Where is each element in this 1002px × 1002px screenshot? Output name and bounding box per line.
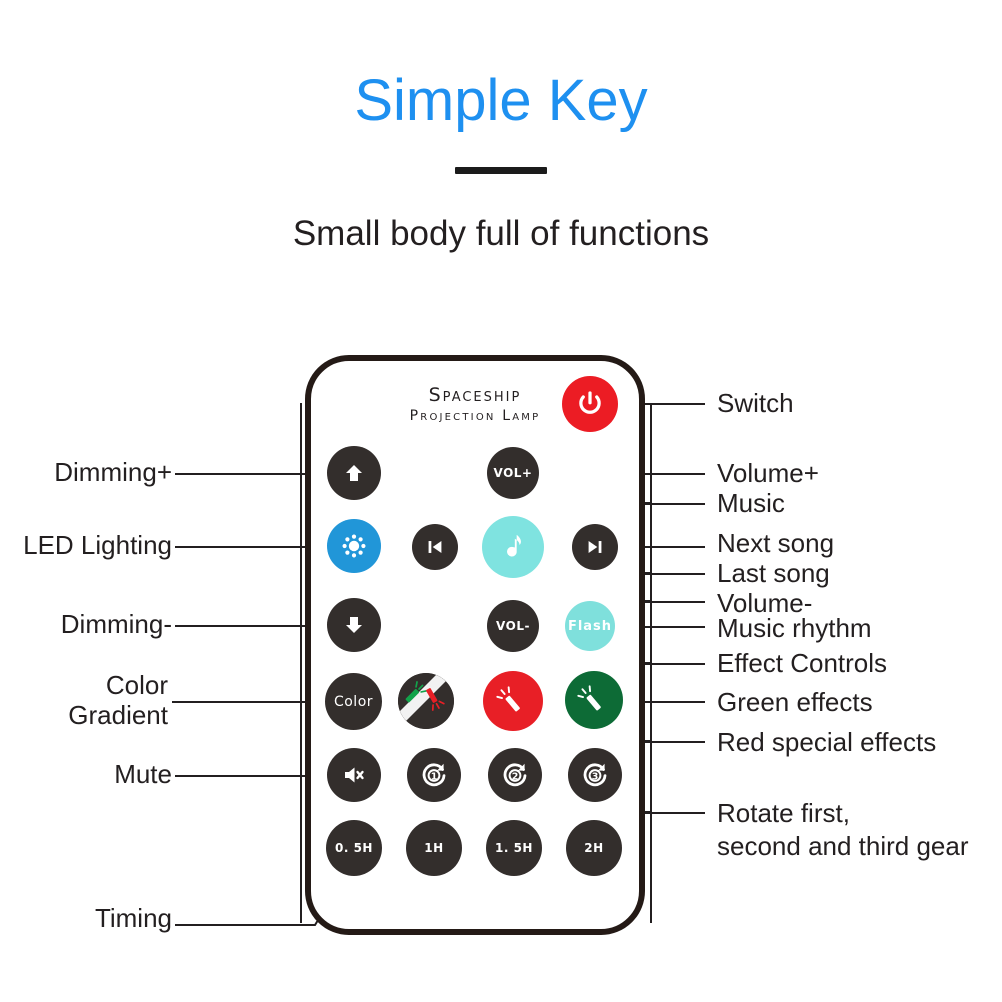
- effect-controls-button[interactable]: [398, 673, 454, 729]
- infographic-canvas: Simple Key Small body full of functions: [0, 0, 1002, 1002]
- color-label: Color: [334, 695, 373, 709]
- svg-text:1: 1: [431, 771, 438, 782]
- power-button[interactable]: [562, 376, 618, 432]
- music-rhythm-button[interactable]: Flash: [565, 601, 615, 651]
- callout-switch: Switch: [717, 388, 794, 419]
- last-song-button[interactable]: [412, 524, 458, 570]
- callout-rotate-gear-line2: second and third gear: [717, 831, 969, 862]
- rotate-icon: 3: [579, 759, 611, 791]
- svg-text:2: 2: [512, 771, 519, 782]
- mute-button[interactable]: [327, 748, 381, 802]
- callout-color-gradient-line2: Gradient: [0, 700, 168, 731]
- green-effects-button[interactable]: [565, 671, 623, 729]
- timer-1.5h-label: 1. 5H: [495, 842, 533, 854]
- timer-1.5h-button[interactable]: 1. 5H: [486, 820, 542, 876]
- callout-mute: Mute: [0, 759, 172, 790]
- timer-2h-label: 2H: [584, 842, 603, 854]
- next-song-button[interactable]: [572, 524, 618, 570]
- rotate-icon: 2: [499, 759, 531, 791]
- volume-up-label: VOL+: [494, 467, 533, 479]
- music-note-icon: [496, 530, 530, 564]
- callout-next-song: Next song: [717, 528, 834, 559]
- dimming-up-button[interactable]: [327, 446, 381, 500]
- timer-2h-button[interactable]: 2H: [566, 820, 622, 876]
- timer-1h-button[interactable]: 1H: [406, 820, 462, 876]
- callout-dimming-minus: Dimming-: [0, 609, 172, 640]
- callout-last-song: Last song: [717, 558, 830, 589]
- timer-0.5h-label: 0. 5H: [335, 842, 373, 854]
- callout-music-rhythm: Music rhythm: [717, 613, 872, 644]
- callout-timing: Timing: [0, 903, 172, 934]
- volume-down-label: VOL-: [496, 620, 530, 632]
- rotate-gear-1-button[interactable]: 1: [407, 748, 461, 802]
- flashlight-icon: [577, 683, 611, 717]
- next-track-icon: [584, 536, 606, 558]
- rotate-icon: 1: [418, 759, 450, 791]
- callout-effect-controls: Effect Controls: [717, 648, 887, 679]
- callout-rotate-gear-line1: Rotate first,: [717, 798, 850, 829]
- callout-color-gradient-line1: Color: [0, 670, 168, 701]
- callout-red-special-effects: Red special effects: [717, 727, 936, 758]
- prev-track-icon: [424, 536, 446, 558]
- led-ring-icon: [338, 530, 370, 562]
- callout-led-lighting: LED Lighting: [0, 530, 172, 561]
- callout-volume-plus: Volume+: [717, 458, 819, 489]
- dimming-down-button[interactable]: [327, 598, 381, 652]
- callout-dimming-plus: Dimming+: [0, 457, 172, 488]
- mute-icon: [340, 761, 368, 789]
- callout-music: Music: [717, 488, 785, 519]
- rotate-gear-3-button[interactable]: 3: [568, 748, 622, 802]
- arrow-down-icon: [342, 613, 366, 637]
- color-gradient-button[interactable]: Color: [325, 673, 382, 730]
- music-button[interactable]: [482, 516, 544, 578]
- timer-0.5h-button[interactable]: 0. 5H: [326, 820, 382, 876]
- rotate-gear-2-button[interactable]: 2: [488, 748, 542, 802]
- callout-green-effects: Green effects: [717, 687, 873, 718]
- led-lighting-button[interactable]: [327, 519, 381, 573]
- flashlight-icon: [496, 684, 530, 718]
- svg-text:3: 3: [592, 771, 599, 782]
- flash-label: Flash: [568, 620, 612, 633]
- timer-1h-label: 1H: [424, 842, 443, 854]
- red-special-effects-button[interactable]: [483, 671, 543, 731]
- volume-up-button[interactable]: VOL+: [487, 447, 539, 499]
- volume-down-button[interactable]: VOL-: [487, 600, 539, 652]
- split-effects-icon: [398, 673, 454, 729]
- power-icon: [575, 389, 605, 419]
- arrow-up-icon: [342, 461, 366, 485]
